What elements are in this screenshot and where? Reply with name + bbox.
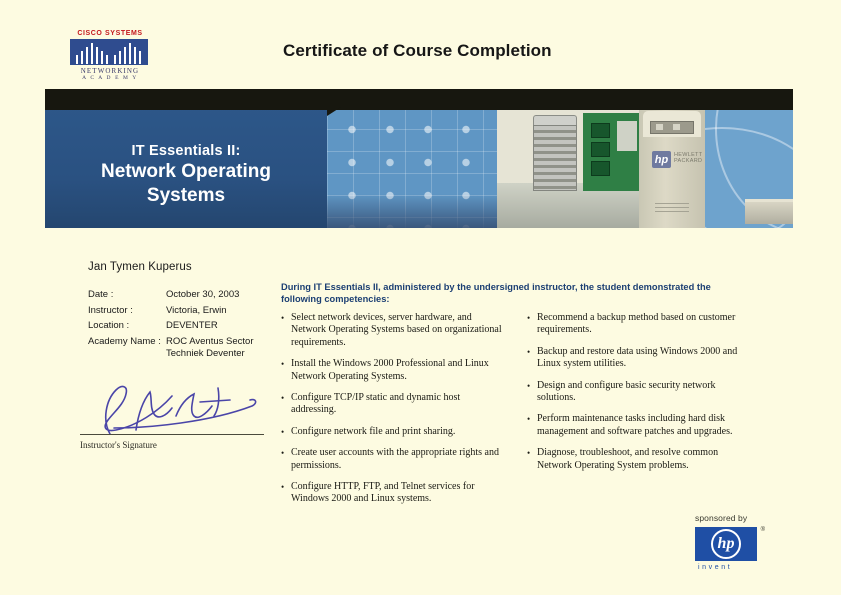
course-name-line1: Network Operating [45,161,327,183]
banner-server-room-scene [497,107,639,228]
cisco-systems-wordmark: CISCO SYSTEMS [70,30,150,38]
detail-value: Victoria, Erwin [166,305,227,317]
course-subtitle: IT Essentials II: [45,143,327,159]
detail-row-academy: Academy Name : ROC Aventus Sector Techni… [88,336,253,360]
detail-label: Instructor : [88,305,162,317]
detail-value: October 30, 2003 [166,289,239,301]
sponsor-block: sponsored by hp ® invent [695,513,795,571]
banner-top-bar [45,89,793,110]
hp-invent-logo: hp ® [695,527,757,561]
detail-value-line2: Techniek Deventer [166,348,253,360]
cisco-networking-academy-logo: CISCO SYSTEMS [70,30,150,82]
detail-label: Location : [88,320,162,332]
competencies-intro: During IT Essentials II, administered by… [281,281,741,305]
detail-label: Academy Name : [88,336,162,360]
signature-caption: Instructor's Signature [80,440,157,450]
list-item: Diagnose, troubleshoot, and resolve comm… [527,447,750,472]
student-details: Date : October 30, 2003 Instructor : Vic… [88,289,253,363]
competencies-column-left: Select network devices, server hardware,… [281,312,504,515]
hp-tagline: invent [695,564,795,571]
banner-grid-pattern [327,107,497,228]
signature-rule [80,434,264,435]
course-name-line2: Systems [45,185,327,207]
list-item: Perform maintenance tasks including hard… [527,413,750,438]
cisco-bridge-icon [70,39,148,65]
list-item: Configure HTTP, FTP, and Telnet services… [281,481,504,506]
signature-block: Instructor's Signature [80,372,270,456]
detail-row-location: Location : DEVENTER [88,320,253,332]
list-item: Backup and restore data using Windows 20… [527,346,750,371]
registered-trademark-icon: ® [761,527,765,533]
competencies-column-right: Recommend a backup method based on custo… [527,312,750,481]
detail-value: ROC Aventus Sector Techniek Deventer [166,336,253,360]
academy-text: A C A D E M Y [70,75,150,82]
circuit-board-icon [583,113,639,191]
banner-hp-server: hp HEWLETT PACKARD [639,107,705,228]
certificate-page: CISCO SYSTEMS [0,0,841,595]
sponsored-by-label: sponsored by [695,513,795,523]
list-item: Design and configure basic security netw… [527,380,750,405]
detail-row-date: Date : October 30, 2003 [88,289,253,301]
list-item: Install the Windows 2000 Professional an… [281,358,504,383]
detail-label: Date : [88,289,162,301]
banner-notch [327,107,341,116]
hewlett-packard-text: HEWLETT PACKARD [674,152,702,164]
list-item: Select network devices, server hardware,… [281,312,504,349]
student-name: Jan Tymen Kuperus [88,261,192,273]
hp-monogram: hp [711,529,741,559]
detail-value-line1: ROC Aventus Sector [166,336,253,347]
list-item: Recommend a backup method based on custo… [527,312,750,337]
handwritten-signature [80,372,270,438]
detail-row-instructor: Instructor : Victoria, Erwin [88,305,253,317]
networking-text: NETWORKING [70,67,150,75]
list-item: Create user accounts with the appropriat… [281,447,504,472]
list-item: Configure network file and print sharing… [281,426,504,438]
list-item: Configure TCP/IP static and dynamic host… [281,392,504,417]
page-title: Certificate of Course Completion [283,41,552,61]
banner-globe-pattern [705,107,793,228]
heatsink-icon [533,125,577,191]
course-title-block: IT Essentials II: Network Operating Syst… [45,143,327,207]
course-banner: hp HEWLETT PACKARD IT Essentials II: Net… [45,89,793,228]
detail-value: DEVENTER [166,320,218,332]
hp-badge-icon: hp [652,151,671,168]
